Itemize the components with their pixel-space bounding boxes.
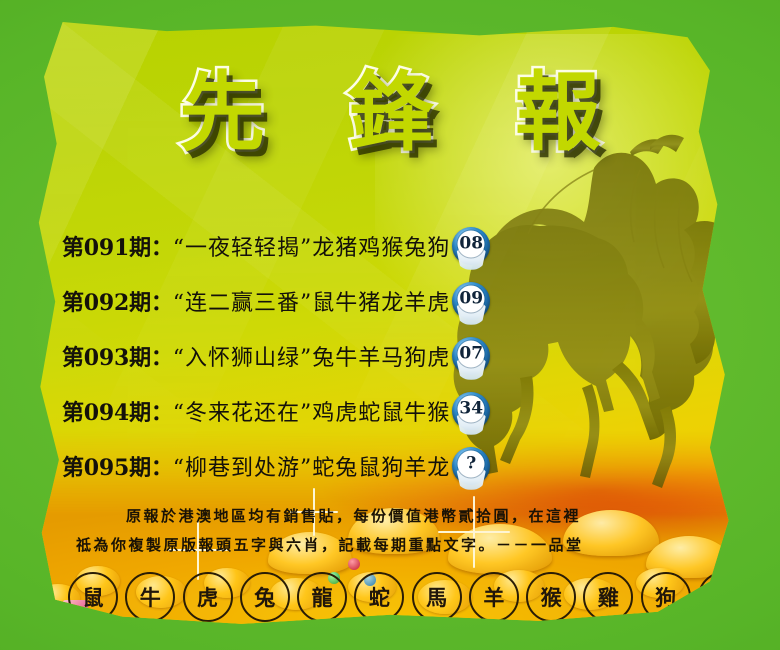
lottery-ball: 07 (452, 337, 490, 375)
issue-label: 第095期： (62, 450, 173, 482)
ball-number: 34 (458, 395, 485, 422)
zodiac-text: 鼠牛猪龙羊虎 (312, 285, 450, 317)
notice-block: 原報於港澳地區均有銷售貼，每份價值港幣貳拾圓，在這裡 祗為你複製原版報頭五字與六… (76, 502, 716, 560)
prediction-row[interactable]: 第095期： “柳巷到处游” 蛇兔鼠狗羊龙 ? (62, 438, 532, 493)
poster-root: 先 鋒 報 第091期： “一夜轻轻揭” 龙猪鸡猴兔狗 08 第092期： “连… (0, 0, 780, 650)
phrase-text: “入怀狮山绿” (173, 340, 313, 372)
notice-line-2: 祗為你複製原版報頭五字與六肖，記載每期重點文字。－－一品堂 (76, 531, 716, 560)
notice-line-1: 原報於港澳地區均有銷售貼，每份價值港幣貳拾圓，在這裡 (76, 502, 716, 531)
prediction-row[interactable]: 第092期： “连二赢三番” 鼠牛猪龙羊虎 09 (62, 273, 532, 328)
issue-label: 第092期： (62, 285, 173, 317)
zodiac-stamp-horse[interactable]: 馬 (412, 572, 462, 622)
zodiac-stamp-dragon[interactable]: 龍 (297, 572, 347, 622)
zodiac-stamp-tiger[interactable]: 虎 (183, 572, 233, 622)
page-title: 先 鋒 報 (18, 70, 762, 156)
zodiac-stamp-rat[interactable]: 鼠 (68, 572, 118, 622)
inner-panel: 先 鋒 報 第091期： “一夜轻轻揭” 龙猪鸡猴兔狗 08 第092期： “连… (18, 22, 762, 630)
phrase-text: “冬来花还在” (173, 395, 313, 427)
lottery-ball: 34 (452, 392, 490, 430)
ball-number: 07 (458, 340, 485, 367)
zodiac-text: 龙猪鸡猴兔狗 (312, 230, 450, 262)
zodiac-stamp-rooster[interactable]: 雞 (583, 572, 633, 622)
ball-number: ? (458, 450, 485, 477)
zodiac-stamp-row: 鼠 牛 虎 兔 龍 蛇 馬 羊 猴 雞 狗 豬 (68, 572, 748, 622)
prediction-list: 第091期： “一夜轻轻揭” 龙猪鸡猴兔狗 08 第092期： “连二赢三番” … (62, 218, 532, 493)
zodiac-stamp-ox[interactable]: 牛 (125, 572, 175, 622)
lottery-ball: 08 (452, 227, 490, 265)
issue-label: 第093期： (62, 340, 173, 372)
lottery-ball: 09 (452, 282, 490, 320)
ball-number: 08 (458, 230, 485, 257)
zodiac-stamp-rabbit[interactable]: 兔 (240, 572, 290, 622)
lottery-ball-unknown: ? (452, 447, 490, 485)
zodiac-stamp-pig[interactable]: 豬 (698, 572, 748, 622)
prediction-row[interactable]: 第091期： “一夜轻轻揭” 龙猪鸡猴兔狗 08 (62, 218, 532, 273)
zodiac-stamp-dog[interactable]: 狗 (641, 572, 691, 622)
zodiac-text: 兔牛羊马狗虎 (312, 340, 450, 372)
prediction-row[interactable]: 第094期： “冬来花还在” 鸡虎蛇鼠牛猴 34 (62, 383, 532, 438)
zodiac-text: 鸡虎蛇鼠牛猴 (312, 395, 450, 427)
zodiac-stamp-goat[interactable]: 羊 (469, 572, 519, 622)
zodiac-stamp-monkey[interactable]: 猴 (526, 572, 576, 622)
issue-label: 第091期： (62, 230, 173, 262)
phrase-text: “连二赢三番” (173, 285, 313, 317)
zodiac-stamp-snake[interactable]: 蛇 (354, 572, 404, 622)
phrase-text: “一夜轻轻揭” (173, 230, 313, 262)
ball-number: 09 (458, 285, 485, 312)
zodiac-text: 蛇兔鼠狗羊龙 (312, 450, 450, 482)
issue-label: 第094期： (62, 395, 173, 427)
prediction-row[interactable]: 第093期： “入怀狮山绿” 兔牛羊马狗虎 07 (62, 328, 532, 383)
phrase-text: “柳巷到处游” (173, 450, 313, 482)
